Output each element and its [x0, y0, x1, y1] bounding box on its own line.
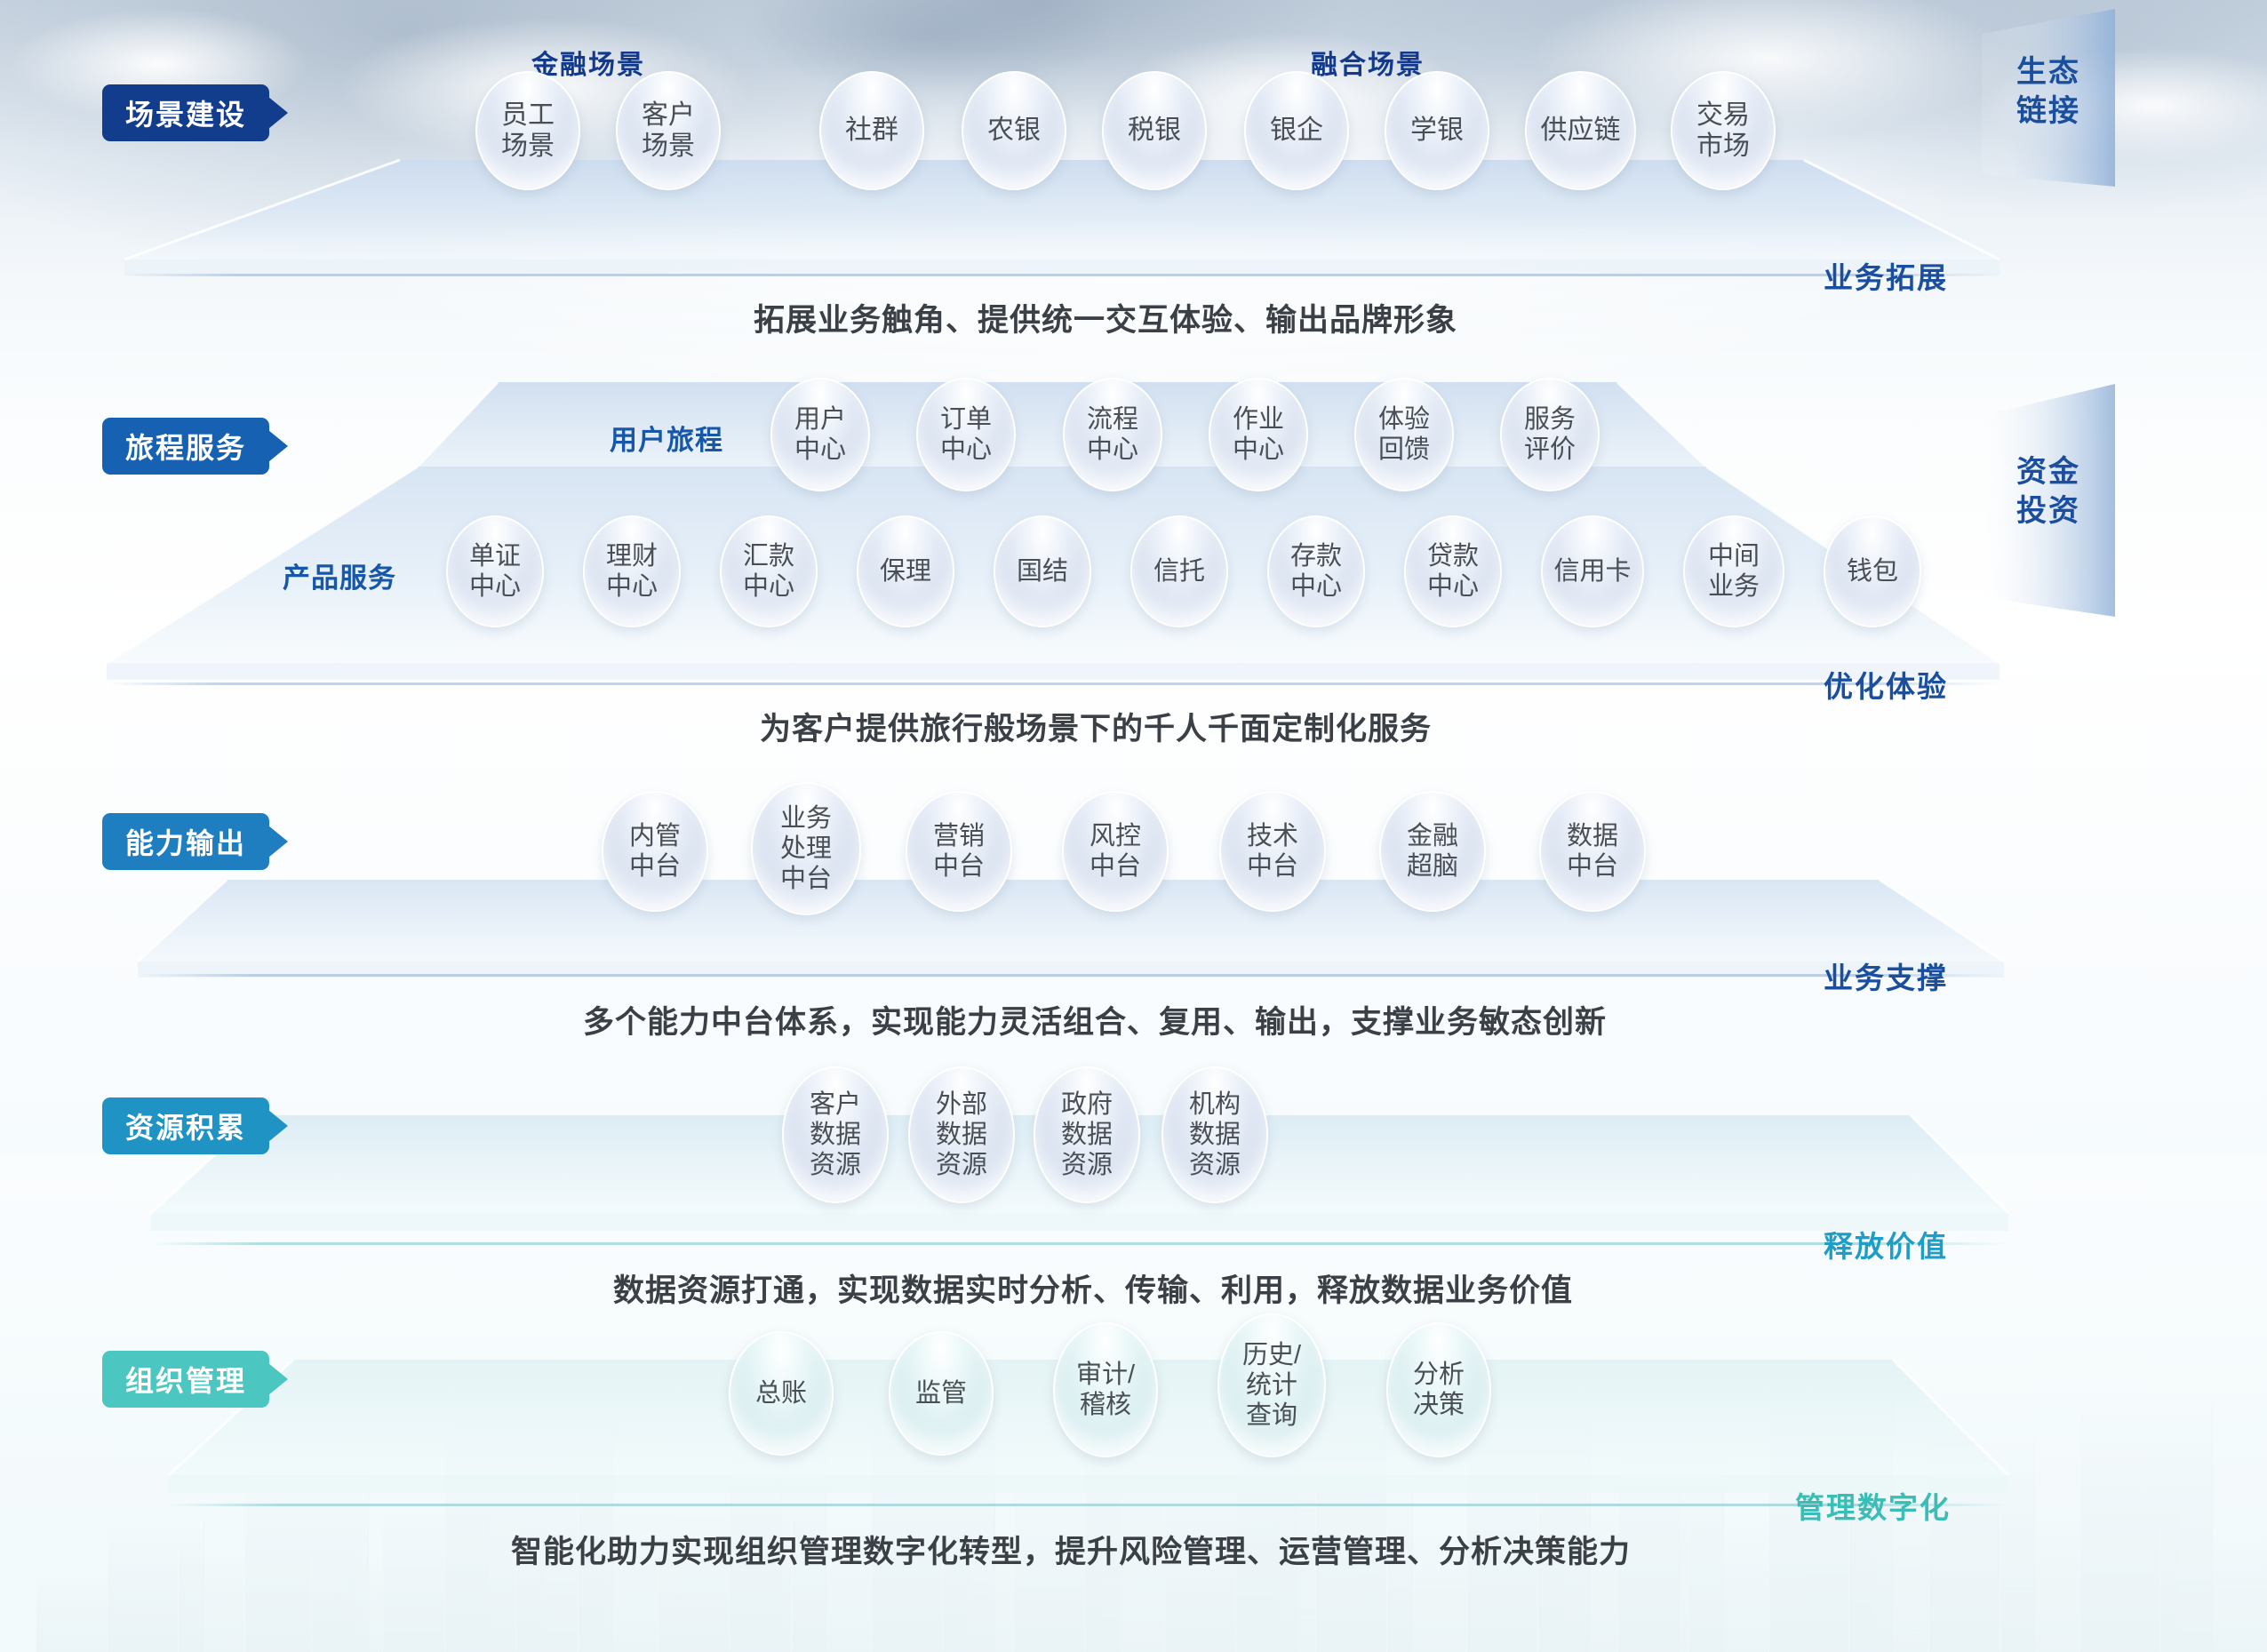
node-analysis-decision[interactable]: 分析 决策 [1386, 1322, 1491, 1457]
node-general-ledger[interactable]: 总账 [729, 1331, 834, 1456]
node-government-data-resource[interactable]: 政府 数据 资源 [1034, 1066, 1140, 1203]
node-technology-midplatform[interactable]: 技术 中台 [1219, 791, 1326, 912]
side-banner-fund-investment: 资金 投资 [1982, 384, 2115, 617]
phase-label-business-expansion: 业务拓展 [1824, 254, 1948, 297]
node-internal-mgmt-midplatform[interactable]: 内管 中台 [602, 791, 708, 912]
tier-tag-resource-accumulation[interactable]: 资源积累 [102, 1097, 269, 1154]
side-banner-label: 资金 投资 [1982, 453, 2115, 531]
node-trading-market[interactable]: 交易 市场 [1671, 71, 1776, 190]
side-banner-ecosystem-link: 生态 链接 [1982, 9, 2115, 187]
phase-label-business-support: 业务支撑 [1824, 954, 1948, 997]
node-process-center[interactable]: 流程 中心 [1063, 378, 1162, 491]
side-banner-label: 生态 链接 [1982, 53, 2115, 131]
node-user-center[interactable]: 用户 中心 [770, 378, 870, 491]
tier-divider-4 [151, 1242, 2008, 1245]
node-wealth-center[interactable]: 理财 中心 [583, 515, 681, 627]
node-tax-bank[interactable]: 税银 [1102, 71, 1207, 190]
node-service-rating[interactable]: 服务 评价 [1500, 378, 1600, 491]
tier-tag-label: 旅程服务 [125, 426, 246, 467]
node-finance-superbrain[interactable]: 金融 超脑 [1379, 791, 1486, 912]
node-experience-feedback[interactable]: 体验 回馈 [1354, 378, 1454, 491]
node-intermediary-business[interactable]: 中间 业务 [1683, 515, 1784, 627]
node-bank-enterprise[interactable]: 银企 [1244, 71, 1349, 190]
phase-label-optimize-experience: 优化体验 [1824, 663, 1948, 706]
node-institution-data-resource[interactable]: 机构 数据 资源 [1161, 1066, 1268, 1203]
tier-tag-label: 组织管理 [125, 1359, 246, 1400]
phase-label-release-value: 释放价值 [1824, 1223, 1948, 1265]
node-supervision[interactable]: 监管 [889, 1331, 994, 1456]
node-deposit-center[interactable]: 存款 中心 [1267, 515, 1365, 627]
tier-caption-1: 拓展业务触角、提供统一交互体验、输出品牌形象 [754, 295, 1457, 340]
tier-divider-3 [138, 974, 2004, 977]
node-factoring[interactable]: 保理 [857, 515, 954, 627]
phase-label-management-digitalization: 管理数字化 [1795, 1484, 1951, 1527]
node-remittance-center[interactable]: 汇款 中心 [720, 515, 818, 627]
node-loan-center[interactable]: 贷款 中心 [1404, 515, 1502, 627]
node-agri-bank[interactable]: 农银 [962, 71, 1066, 190]
tier-tag-organization-management[interactable]: 组织管理 [102, 1351, 269, 1408]
tier-divider-1 [124, 274, 2000, 276]
tier-tag-journey-service[interactable]: 旅程服务 [102, 418, 269, 475]
column-head-fusion-scene: 融合场景 [1311, 43, 1425, 82]
node-trust[interactable]: 信托 [1130, 515, 1228, 627]
tier-platform-3 [138, 880, 2004, 978]
node-risk-control-midplatform[interactable]: 风控 中台 [1062, 791, 1169, 912]
node-document-center[interactable]: 单证 中心 [446, 515, 544, 627]
node-history-statistics-query[interactable]: 历史/ 统计 查询 [1217, 1313, 1326, 1457]
node-wallet[interactable]: 钱包 [1824, 515, 1921, 627]
node-data-midplatform[interactable]: 数据 中台 [1539, 791, 1646, 912]
tier-caption-4: 数据资源打通，实现数据实时分析、传输、利用，释放数据业务价值 [613, 1265, 1573, 1311]
node-operation-center[interactable]: 作业 中心 [1209, 378, 1308, 491]
tier-divider-2 [107, 682, 2000, 685]
tier-tag-label: 资源积累 [125, 1105, 246, 1146]
tier-tag-capability-output[interactable]: 能力输出 [102, 813, 269, 870]
tier-caption-3: 多个能力中台体系，实现能力灵活组合、复用、输出，支撑业务敏态创新 [583, 997, 1607, 1042]
group-label-product-service: 产品服务 [283, 555, 396, 595]
node-school-bank[interactable]: 学银 [1385, 71, 1489, 190]
tier-tag-label: 场景建设 [125, 92, 246, 133]
node-external-data-resource[interactable]: 外部 数据 资源 [908, 1066, 1015, 1203]
node-marketing-midplatform[interactable]: 营销 中台 [906, 791, 1012, 912]
architecture-diagram: 场景建设 金融场景 融合场景 员工 场景 客户 场景 社群 农银 税银 银企 学… [0, 0, 2267, 1652]
node-audit-inspection[interactable]: 审计/ 稽核 [1053, 1322, 1158, 1457]
node-business-processing-midplatform[interactable]: 业务 处理 中台 [751, 782, 861, 915]
node-order-center[interactable]: 订单 中心 [916, 378, 1016, 491]
group-label-user-journey: 用户旅程 [610, 418, 723, 458]
node-credit-card[interactable]: 信用卡 [1541, 515, 1644, 627]
tier-caption-2: 为客户提供旅行般场景下的千人千面定制化服务 [760, 704, 1432, 749]
node-staff-scene[interactable]: 员工 场景 [475, 71, 580, 190]
node-international-settlement[interactable]: 国结 [994, 515, 1091, 627]
node-supply-chain[interactable]: 供应链 [1525, 71, 1636, 190]
node-community[interactable]: 社群 [819, 71, 924, 190]
tier-tag-label: 能力输出 [125, 821, 246, 862]
tier-caption-5: 智能化助力实现组织管理数字化转型，提升风险管理、运营管理、分析决策能力 [511, 1527, 1631, 1572]
tier-divider-5 [169, 1504, 2008, 1506]
tier-tag-scene-building[interactable]: 场景建设 [102, 84, 269, 141]
node-customer-scene[interactable]: 客户 场景 [616, 71, 721, 190]
node-customer-data-resource[interactable]: 客户 数据 资源 [782, 1066, 889, 1203]
